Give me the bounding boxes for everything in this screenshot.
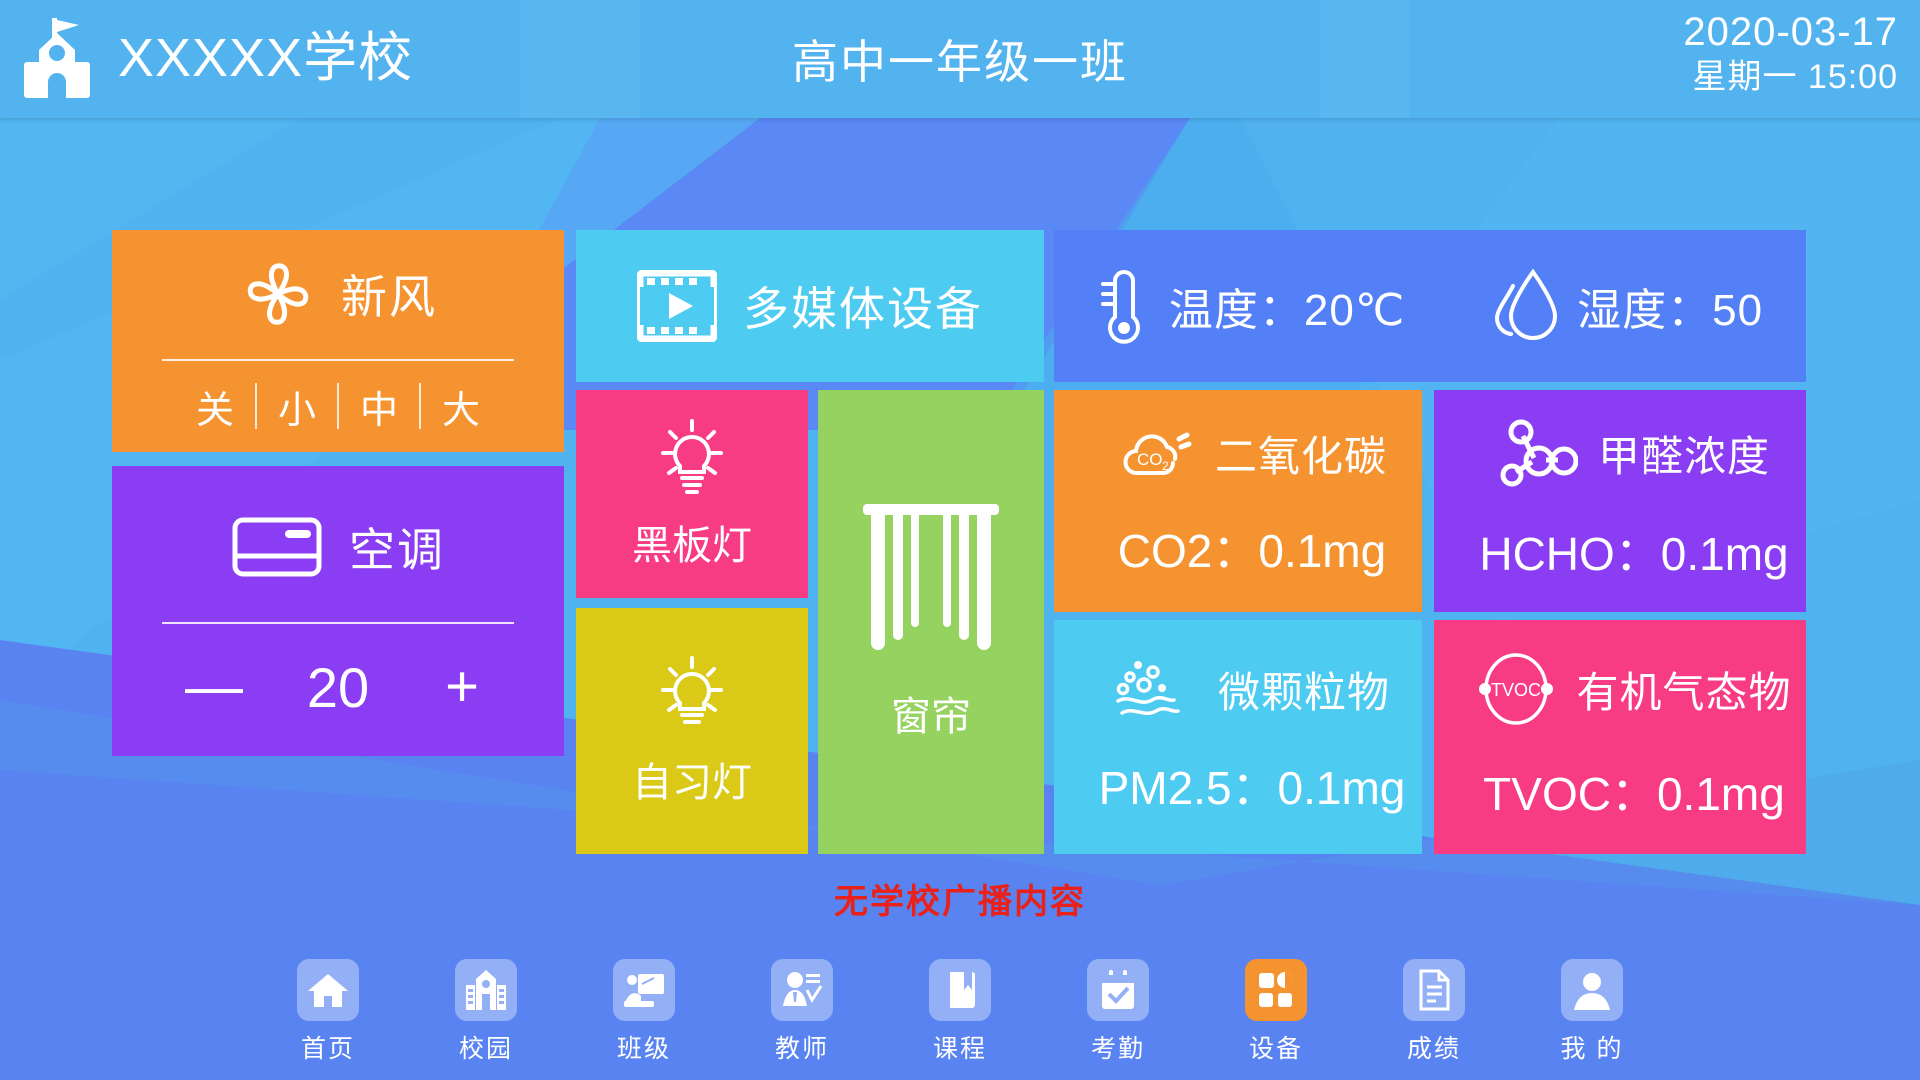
humidity-text: 湿度：50 — [1577, 274, 1763, 338]
nav-label-campus: 校园 — [459, 1029, 513, 1065]
blackboard-lamp-card[interactable]: 黑板灯 — [576, 390, 808, 598]
broadcast-message: 无学校广播内容 — [0, 874, 1920, 923]
nav-label-home: 首页 — [301, 1029, 355, 1065]
svg-text:2: 2 — [1162, 459, 1169, 473]
fresh-air-speed-off[interactable]: 关 — [175, 379, 255, 434]
svg-text:TVOC: TVOC — [1491, 680, 1541, 700]
fresh-air-speed-group[interactable]: 关 小 中 大 — [112, 361, 564, 452]
pm25-title: 微颗粒物 — [1218, 659, 1390, 720]
air-conditioner-label: 空调 — [349, 514, 445, 580]
current-date: 2020-03-17 — [1683, 8, 1898, 57]
nav-item-teacher[interactable]: 教师 — [743, 959, 861, 1065]
fresh-air-speed-mid[interactable]: 中 — [339, 379, 419, 434]
home-icon — [297, 959, 359, 1021]
header-datetime: 2020-03-17 星期一 15:00 — [1683, 8, 1898, 98]
co2-cloud-icon: CO 2 — [1117, 421, 1195, 485]
humidity-readout: 湿度：50 — [1491, 264, 1763, 348]
temperature-decrease-button[interactable]: — — [185, 658, 243, 716]
devices-grid-icon — [1245, 959, 1307, 1021]
hcho-value: HCHO：0.1mg — [1479, 518, 1788, 584]
curtain-card[interactable]: 窗帘 — [818, 390, 1044, 854]
multimedia-header: 多媒体设备 — [637, 270, 983, 342]
nav-item-class[interactable]: 班级 — [585, 959, 703, 1065]
study-lamp-label: 自习灯 — [632, 750, 752, 808]
air-conditioner-header: 空调 — [112, 472, 564, 622]
fresh-air-speed-low[interactable]: 小 — [257, 379, 337, 434]
tvoc-title: 有机气态物 — [1576, 659, 1791, 720]
document-icon — [1403, 959, 1465, 1021]
temperature-value: 20 — [295, 655, 381, 720]
temperature-readout: 温度：20℃ — [1097, 264, 1405, 348]
lightbulb-icon — [649, 417, 735, 503]
temperature-text: 温度：20℃ — [1169, 274, 1405, 338]
blackboard-lamp-label: 黑板灯 — [632, 513, 752, 571]
temperature-stepper[interactable]: — 20 + — [112, 624, 564, 750]
fan-icon — [239, 255, 317, 333]
water-drop-icon — [1491, 264, 1559, 348]
nav-item-home[interactable]: 首页 — [269, 959, 387, 1065]
dashboard-stage: 新风 关 小 中 大 — [0, 118, 1920, 1080]
fresh-air-header: 新风 — [112, 230, 564, 359]
current-weekday-time: 星期一 15:00 — [1683, 57, 1898, 98]
multimedia-card[interactable]: 多媒体设备 — [576, 230, 1044, 382]
co2-sensor-card[interactable]: CO 2 二氧化碳 CO2：0.1mg — [1054, 390, 1422, 612]
molecule-icon — [1498, 418, 1578, 488]
book-icon — [929, 959, 991, 1021]
class-name: 高中一年级一班 — [0, 0, 1920, 118]
pm25-sensor-card[interactable]: 微颗粒物 PM2.5：0.1mg — [1054, 620, 1422, 854]
nav-item-attendance[interactable]: 考勤 — [1059, 959, 1177, 1065]
classroom-icon — [613, 959, 675, 1021]
nav-label-attendance: 考勤 — [1091, 1029, 1145, 1065]
film-play-icon — [637, 270, 717, 342]
curtain-label: 窗帘 — [891, 684, 971, 742]
particles-icon — [1114, 656, 1198, 722]
user-icon — [1561, 959, 1623, 1021]
co2-value: CO2：0.1mg — [1118, 515, 1386, 581]
tvoc-orbit-icon: TVOC — [1476, 650, 1556, 728]
hcho-sensor-card[interactable]: 甲醛浓度 HCHO：0.1mg — [1434, 390, 1806, 612]
study-lamp-card[interactable]: 自习灯 — [576, 608, 808, 854]
svg-text:CO: CO — [1137, 450, 1163, 469]
nav-item-campus[interactable]: 校园 — [427, 959, 545, 1065]
nav-label-devices: 设备 — [1249, 1029, 1303, 1065]
pm25-value: PM2.5：0.1mg — [1099, 752, 1406, 818]
nav-label-profile: 我 的 — [1561, 1029, 1624, 1065]
multimedia-label: 多媒体设备 — [743, 273, 983, 339]
fresh-air-card[interactable]: 新风 关 小 中 大 — [112, 230, 564, 452]
nav-label-class: 班级 — [617, 1029, 671, 1065]
tvoc-value: TVOC：0.1mg — [1483, 758, 1785, 824]
nav-item-profile[interactable]: 我 的 — [1533, 959, 1651, 1065]
fresh-air-speed-high[interactable]: 大 — [421, 379, 501, 434]
co2-title: 二氧化碳 — [1215, 423, 1387, 484]
lightbulb-icon — [649, 654, 735, 740]
teacher-icon — [771, 959, 833, 1021]
air-conditioner-icon — [231, 515, 323, 579]
nav-label-score: 成绩 — [1407, 1029, 1461, 1065]
nav-label-course: 课程 — [933, 1029, 987, 1065]
campus-icon — [455, 959, 517, 1021]
fresh-air-label: 新风 — [341, 261, 437, 327]
app-header: XXXXX学校 高中一年级一班 2020-03-17 星期一 15:00 — [0, 0, 1920, 118]
thermometer-icon — [1097, 264, 1151, 348]
air-conditioner-card[interactable]: 空调 — 20 + — [112, 466, 564, 756]
hcho-title: 甲醛浓度 — [1598, 423, 1770, 484]
curtain-icon — [859, 502, 1003, 658]
nav-label-teacher: 教师 — [775, 1029, 829, 1065]
nav-item-course[interactable]: 课程 — [901, 959, 1019, 1065]
bottom-navigation: 首页 校园 班级 — [0, 944, 1920, 1080]
temperature-increase-button[interactable]: + — [433, 658, 491, 716]
climate-readout-card: 温度：20℃ 湿度：50 — [1054, 230, 1806, 382]
calendar-check-icon — [1087, 959, 1149, 1021]
tvoc-sensor-card[interactable]: TVOC 有机气态物 TVOC：0.1mg — [1434, 620, 1806, 854]
nav-item-score[interactable]: 成绩 — [1375, 959, 1493, 1065]
nav-item-devices[interactable]: 设备 — [1217, 959, 1335, 1065]
